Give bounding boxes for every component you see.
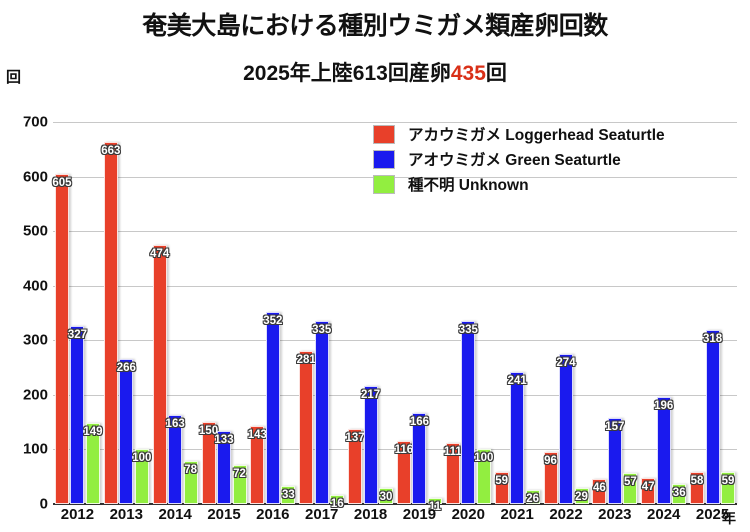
bar[interactable]: 30 (379, 488, 393, 504)
legend-swatch-icon (373, 150, 395, 169)
bar-value-label: 96 (544, 455, 557, 467)
bar-value-label: 116 (395, 444, 414, 456)
bar[interactable]: 327 (70, 326, 84, 504)
bar[interactable]: 217 (364, 386, 378, 504)
x-tick-label: 2020 (452, 506, 485, 523)
bar[interactable]: 16 (330, 495, 344, 504)
bar[interactable]: 241 (510, 372, 524, 504)
bar-value-label: 352 (263, 315, 282, 327)
bar-value-label: 474 (150, 248, 169, 260)
legend-swatch-icon (373, 175, 395, 194)
bar[interactable]: 149 (86, 423, 100, 504)
bar-group: 15013372 (202, 122, 247, 504)
x-tick-label: 2022 (549, 506, 582, 523)
bar[interactable]: 318 (706, 330, 720, 504)
bar-value-label: 57 (624, 476, 637, 488)
bar-value-label: 163 (166, 418, 185, 430)
bar[interactable]: 150 (202, 422, 216, 504)
bar[interactable]: 100 (477, 449, 491, 504)
legend-item-label: 種不明 Unknown (408, 173, 529, 195)
bar[interactable]: 46 (592, 479, 606, 504)
x-tick-label: 2024 (647, 506, 680, 523)
bar-value-label: 100 (132, 452, 151, 464)
legend-item-label: アカウミガメ Loggerhead Seaturtle (408, 123, 665, 145)
bar[interactable]: 143 (250, 426, 264, 504)
y-axis-tick-labels: 0100200300400500600700 (0, 0, 48, 532)
bar-value-label: 166 (410, 416, 429, 428)
x-tick-label: 2019 (403, 506, 436, 523)
bar-value-label: 137 (345, 432, 364, 444)
bar[interactable]: 59 (721, 472, 735, 504)
bar-value-label: 327 (68, 329, 87, 341)
y-tick-label: 300 (4, 332, 48, 349)
bar-value-label: 318 (703, 333, 722, 345)
bar-value-label: 335 (459, 324, 478, 336)
bar[interactable]: 266 (119, 359, 133, 504)
bar-value-label: 605 (52, 177, 71, 189)
bar-value-label: 29 (575, 491, 588, 503)
bar-value-label: 59 (722, 475, 735, 487)
bar[interactable]: 137 (348, 429, 362, 504)
x-tick-label: 2012 (61, 506, 94, 523)
x-tick-label: 2018 (354, 506, 387, 523)
x-tick-label: 2014 (158, 506, 191, 523)
subtitle-suffix: 回 (486, 62, 507, 85)
bar[interactable]: 133 (217, 431, 231, 504)
bar-value-label: 281 (297, 354, 316, 366)
bar[interactable]: 72 (233, 465, 247, 504)
y-tick-label: 0 (4, 496, 48, 513)
bar-value-label: 241 (508, 375, 527, 387)
bar-group: 47416378 (153, 122, 198, 504)
subtitle-prefix: 2025年上陸613回産卵 (243, 62, 451, 85)
x-tick-label: 2017 (305, 506, 338, 523)
bar-group: 28133516 (299, 122, 344, 504)
bar[interactable]: 274 (559, 354, 573, 504)
bar[interactable]: 352 (266, 312, 280, 504)
bar[interactable]: 605 (55, 174, 69, 504)
bar[interactable]: 78 (184, 461, 198, 504)
bar-value-label: 196 (654, 400, 673, 412)
bar[interactable]: 96 (544, 452, 558, 504)
x-tick-label: 2015 (207, 506, 240, 523)
bar-value-label: 26 (526, 493, 539, 505)
bar[interactable]: 157 (608, 418, 622, 504)
y-tick-label: 200 (4, 386, 48, 403)
bar-value-label: 157 (605, 421, 624, 433)
bar-group: 663266100 (104, 122, 149, 504)
bar-value-label: 46 (593, 482, 606, 494)
bar[interactable]: 57 (623, 473, 637, 504)
bar[interactable]: 100 (135, 449, 149, 504)
bar[interactable]: 663 (104, 142, 118, 504)
bar-value-label: 47 (642, 481, 655, 493)
bar-value-label: 133 (214, 434, 233, 446)
x-axis-tick-labels: 2012201320142015201620172018201920202021… (53, 506, 737, 532)
bar-value-label: 100 (474, 452, 493, 464)
bar[interactable]: 36 (672, 484, 686, 504)
x-tick-label: 2025 (696, 506, 729, 523)
bar-value-label: 33 (282, 489, 295, 501)
bar[interactable]: 11 (428, 498, 442, 504)
bar[interactable]: 29 (575, 488, 589, 504)
subtitle-accent-number: 435 (451, 62, 486, 85)
x-tick-label: 2016 (256, 506, 289, 523)
x-tick-label: 2013 (110, 506, 143, 523)
bar-value-label: 274 (556, 357, 575, 369)
page-title: 奄美大島における種別ウミガメ類産卵回数 (0, 6, 750, 42)
bar-value-label: 58 (691, 475, 704, 487)
bar-value-label: 143 (248, 429, 267, 441)
bar[interactable]: 111 (446, 443, 460, 504)
bar[interactable]: 59 (495, 472, 509, 504)
legend-item-green[interactable]: アオウミガメ Green Seaturtle (373, 147, 743, 171)
bar-group: 14335233 (250, 122, 295, 504)
bar-group: 605327149 (55, 122, 100, 504)
bar[interactable]: 335 (315, 321, 329, 504)
y-tick-label: 700 (4, 114, 48, 131)
x-tick-label: 2021 (500, 506, 533, 523)
bar-value-label: 78 (184, 464, 197, 476)
legend-item-unknown[interactable]: 種不明 Unknown (373, 172, 743, 196)
legend-item-label: アオウミガメ Green Seaturtle (408, 148, 621, 170)
chart-legend: アカウミガメ Loggerhead Seaturtleアオウミガメ Green … (373, 122, 743, 197)
bar[interactable]: 26 (526, 490, 540, 504)
bar[interactable]: 58 (690, 472, 704, 504)
bar-value-label: 72 (233, 468, 246, 480)
y-tick-label: 600 (4, 168, 48, 185)
y-tick-label: 400 (4, 277, 48, 294)
bar-value-label: 111 (444, 446, 462, 458)
bar-value-label: 36 (673, 487, 686, 499)
bar[interactable]: 47 (641, 478, 655, 504)
bar-value-label: 59 (495, 475, 508, 487)
legend-swatch-icon (373, 125, 395, 144)
bar[interactable]: 163 (168, 415, 182, 504)
x-tick-label: 2023 (598, 506, 631, 523)
bar-value-label: 217 (361, 389, 380, 401)
bar[interactable]: 474 (153, 245, 167, 504)
y-tick-label: 100 (4, 441, 48, 458)
bar[interactable]: 335 (461, 321, 475, 504)
bar[interactable]: 116 (397, 441, 411, 504)
bar[interactable]: 196 (657, 397, 671, 504)
bar-value-label: 149 (83, 426, 102, 438)
chart-subtitle: 2025年上陸613回産卵435回 (0, 57, 750, 87)
legend-item-loggerhead[interactable]: アカウミガメ Loggerhead Seaturtle (373, 122, 743, 146)
bar[interactable]: 166 (412, 413, 426, 504)
bar[interactable]: 33 (281, 486, 295, 504)
bar[interactable]: 281 (299, 351, 313, 504)
bar-value-label: 266 (117, 362, 136, 374)
bar-value-label: 335 (312, 324, 331, 336)
bar-value-label: 663 (101, 145, 120, 157)
bar-value-label: 30 (380, 491, 393, 503)
y-tick-label: 500 (4, 223, 48, 240)
